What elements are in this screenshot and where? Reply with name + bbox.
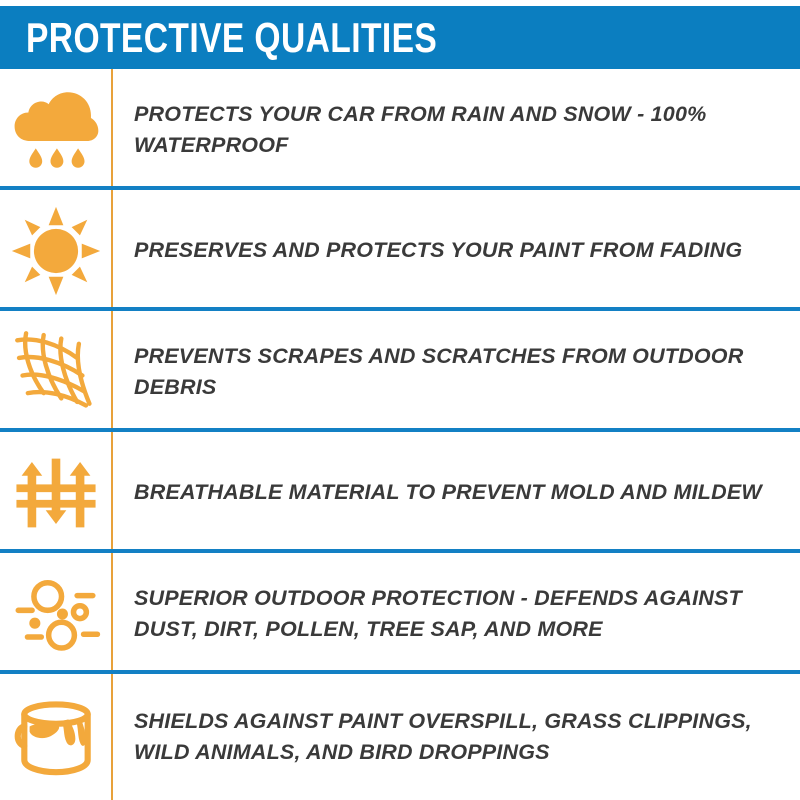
column-divider: [111, 553, 113, 674]
paint-can-icon: [12, 693, 100, 781]
column-divider: [111, 311, 113, 432]
feature-text: BREATHABLE MATERIAL TO PREVENT MOLD AND …: [134, 477, 782, 508]
text-cell: SUPERIOR OUTDOOR PROTECTION - DEFENDS AG…: [111, 583, 800, 644]
column-divider: [111, 190, 113, 311]
feature-text: SUPERIOR OUTDOOR PROTECTION - DEFENDS AG…: [134, 583, 782, 644]
icon-cell: [0, 190, 111, 311]
feature-row-paint-overspill: SHIELDS AGAINST PAINT OVERSPILL, GRASS C…: [0, 674, 800, 800]
column-divider: [111, 674, 113, 800]
page-title: PROTECTIVE QUALITIES: [26, 17, 437, 59]
header-banner: PROTECTIVE QUALITIES: [0, 6, 800, 69]
icon-cell: [0, 311, 111, 432]
feature-text: SHIELDS AGAINST PAINT OVERSPILL, GRASS C…: [134, 706, 782, 767]
feature-text: PROTECTS YOUR CAR FROM RAIN AND SNOW - 1…: [134, 99, 782, 160]
feature-row-breathable: BREATHABLE MATERIAL TO PREVENT MOLD AND …: [0, 432, 800, 553]
feature-row-scratch-resistance: PREVENTS SCRAPES AND SCRATCHES FROM OUTD…: [0, 311, 800, 432]
text-cell: SHIELDS AGAINST PAINT OVERSPILL, GRASS C…: [111, 706, 800, 767]
sun-icon: [10, 205, 102, 297]
feature-rows: PROTECTS YOUR CAR FROM RAIN AND SNOW - 1…: [0, 69, 800, 800]
icon-cell: [0, 69, 111, 190]
text-cell: BREATHABLE MATERIAL TO PREVENT MOLD AND …: [111, 477, 800, 508]
feature-text: PRESERVES AND PROTECTS YOUR PAINT FROM F…: [134, 235, 782, 266]
column-divider: [111, 69, 113, 190]
icon-cell: [0, 432, 111, 553]
protective-qualities-infographic: PROTECTIVE QUALITIES PROTECTS YOUR CAR F…: [0, 0, 800, 800]
feature-row-dust-protection: SUPERIOR OUTDOOR PROTECTION - DEFENDS AG…: [0, 553, 800, 674]
text-cell: PROTECTS YOUR CAR FROM RAIN AND SNOW - 1…: [111, 99, 800, 160]
text-cell: PRESERVES AND PROTECTS YOUR PAINT FROM F…: [111, 235, 800, 266]
icon-cell: [0, 674, 111, 800]
mesh-net-icon: [12, 328, 100, 416]
feature-text: PREVENTS SCRAPES AND SCRATCHES FROM OUTD…: [134, 341, 782, 402]
dust-particles-icon: [10, 568, 102, 660]
feature-row-uv-fading: PRESERVES AND PROTECTS YOUR PAINT FROM F…: [0, 190, 800, 311]
icon-cell: [0, 553, 111, 674]
feature-row-waterproof: PROTECTS YOUR CAR FROM RAIN AND SNOW - 1…: [0, 69, 800, 190]
column-divider: [111, 432, 113, 553]
text-cell: PREVENTS SCRAPES AND SCRATCHES FROM OUTD…: [111, 341, 800, 402]
rain-cloud-icon: [10, 84, 102, 176]
airflow-arrows-icon: [13, 450, 99, 536]
